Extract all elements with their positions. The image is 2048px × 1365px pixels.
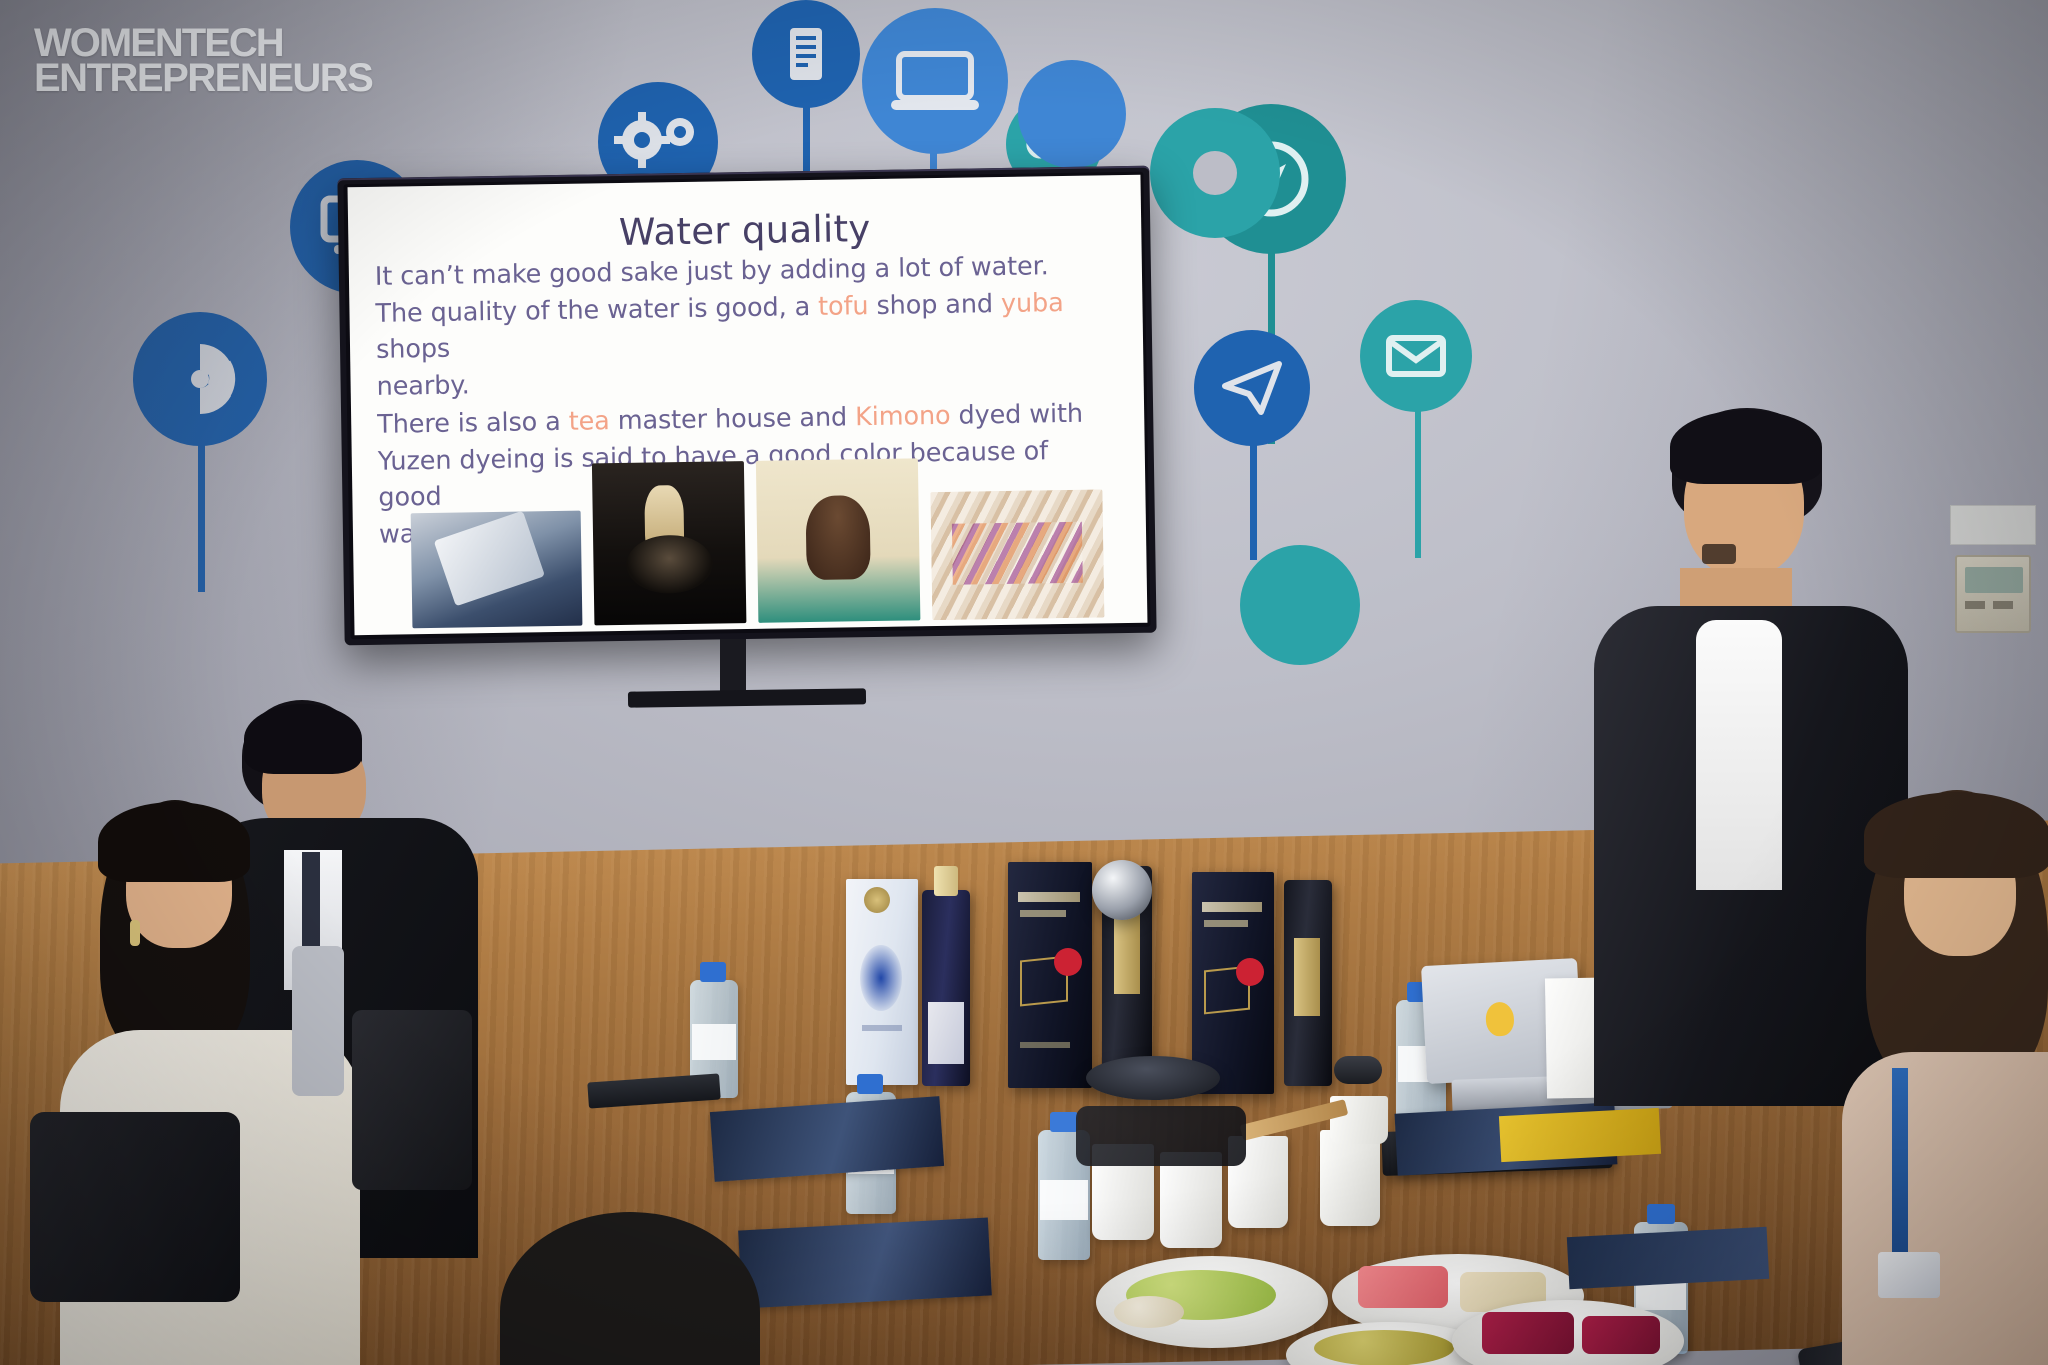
slide-line-2: The quality of the water is good, a tofu… (375, 286, 1117, 369)
chair-back (1076, 1106, 1246, 1166)
chair (352, 1010, 472, 1190)
lacquer-tray (1086, 1056, 1220, 1100)
attendee-woman-right (1830, 790, 2048, 1365)
attendee-back-of-head (500, 1212, 800, 1365)
slide-photo-row (410, 455, 1109, 628)
yellow-folder[interactable] (1499, 1108, 1661, 1162)
presentation-television: Water quality It can’t make good sake ju… (337, 166, 1156, 646)
fruit-platter-grapes (1096, 1256, 1328, 1348)
tea-master-portrait-photo (756, 458, 921, 623)
event-logo: WOMENTECH ENTREPRENEURS (34, 26, 372, 96)
photo-scene: WOMENTECH ENTREPRENEURS Water quality It… (0, 0, 2048, 1365)
chair-arm (292, 946, 344, 1096)
paper-cup (1160, 1152, 1222, 1248)
sake-bottle-blue-label (922, 890, 970, 1086)
sake-box-black-right (1192, 872, 1274, 1094)
yuba-hotpot-photo (592, 461, 747, 625)
chair (30, 1112, 240, 1302)
tv-stand-arm (628, 688, 866, 707)
sake-bottle-black-right (1284, 880, 1332, 1086)
tofu-making-photo (411, 511, 583, 629)
brochure[interactable] (1567, 1227, 1769, 1289)
mouse[interactable] (1334, 1056, 1382, 1084)
logo-line-2: ENTREPRENEURS (34, 61, 372, 96)
yuzen-dyed-kimono-photo (930, 489, 1104, 620)
presentation-slide: Water quality It can’t make good sake ju… (348, 175, 1148, 635)
sake-box-black-left (1008, 862, 1092, 1088)
metal-sphere-ornament (1092, 860, 1152, 920)
paper-cup-stack (1320, 1130, 1380, 1226)
sake-gift-box-blue (846, 879, 918, 1085)
